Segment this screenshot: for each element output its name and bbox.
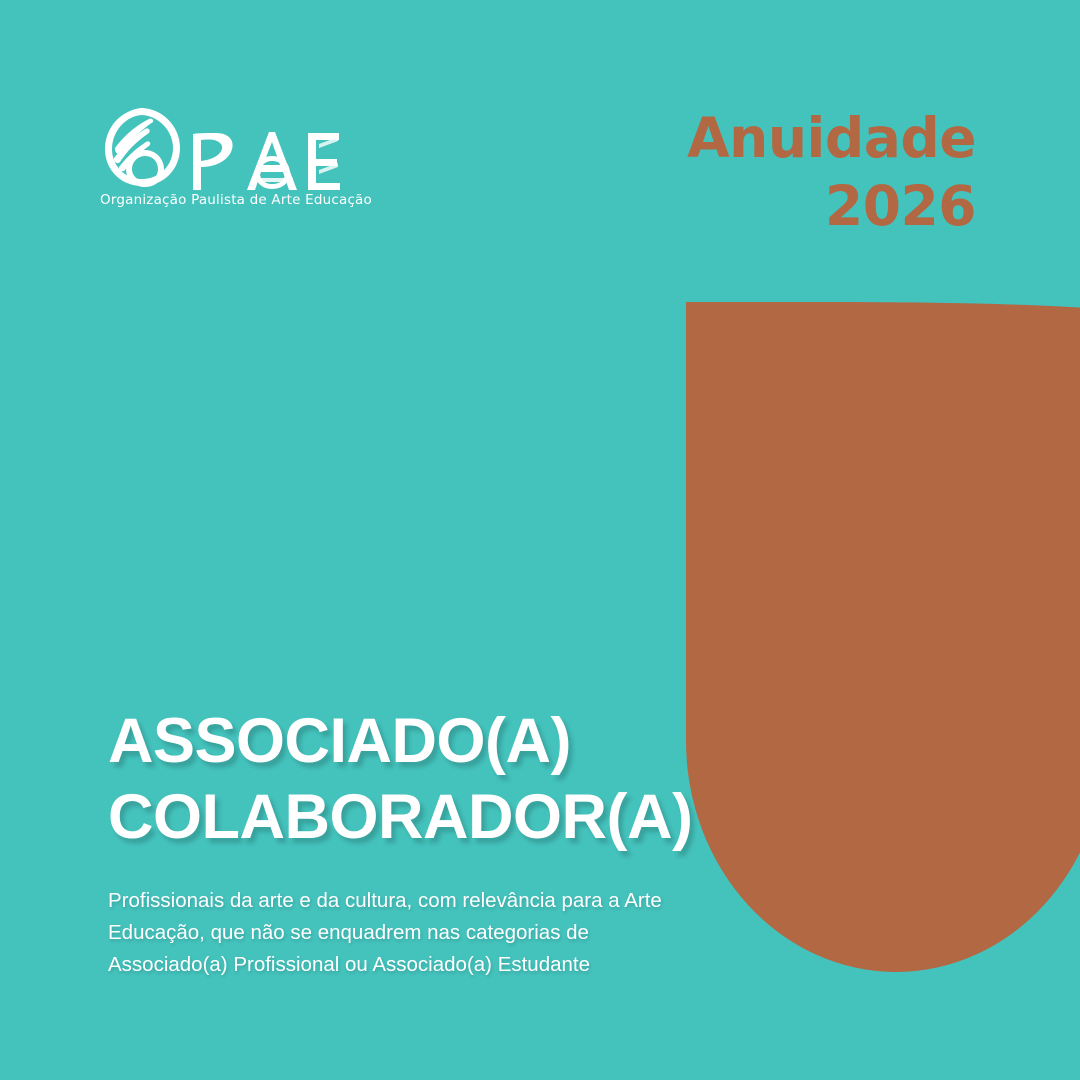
page-title: ASSOCIADO(A) COLABORADOR(A) (108, 703, 808, 855)
annual-title-line-1: Anuidade (556, 104, 976, 172)
terracotta-arch-shape (686, 302, 1080, 972)
description-line-2: Educação, que não se enquadrem nas categ… (108, 917, 733, 949)
annual-title: Anuidade 2026 (556, 104, 976, 240)
page-title-line-1: ASSOCIADO(A) (108, 703, 808, 779)
description-text: Profissionais da arte e da cultura, com … (108, 885, 733, 981)
description-line-1: Profissionais da arte e da cultura, com … (108, 885, 733, 917)
opae-logo-icon (97, 104, 342, 190)
description-line-3: Associado(a) Profissional ou Associado(a… (108, 949, 733, 981)
poster-canvas: Organização Paulista de Arte Educação An… (0, 0, 1080, 1080)
brand-logo: Organização Paulista de Arte Educação (97, 104, 342, 214)
annual-title-line-2: 2026 (556, 172, 976, 240)
brand-tagline: Organização Paulista de Arte Educação (100, 192, 340, 208)
page-title-line-2: COLABORADOR(A) (108, 779, 808, 855)
